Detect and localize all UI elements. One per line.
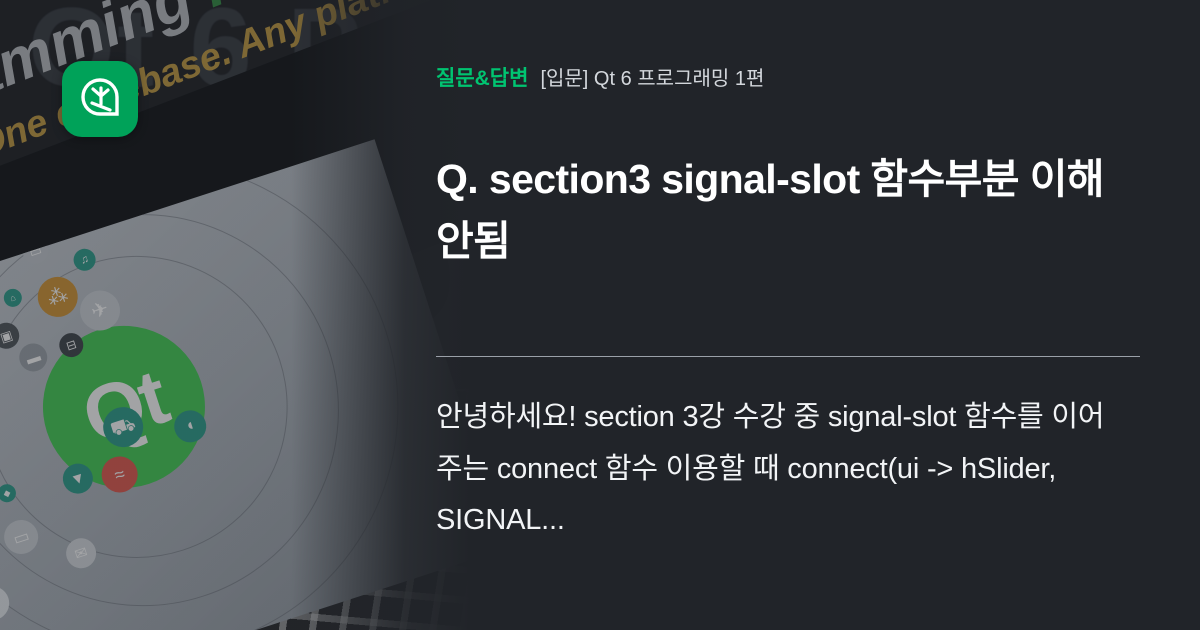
inflearn-logo-icon <box>77 76 123 122</box>
content-divider <box>436 356 1140 357</box>
category-tag[interactable]: 질문&답변 <box>436 62 528 92</box>
course-name[interactable]: [입문] Qt 6 프로그래밍 1편 <box>540 62 764 91</box>
og-card: Qt 6 P rogramming Part 1 work. One codeb… <box>0 0 1200 630</box>
breadcrumb: 질문&답변 [입문] Qt 6 프로그래밍 1편 <box>436 62 764 92</box>
inflearn-logo-badge[interactable] <box>62 61 138 137</box>
post-content: 질문&답변 [입문] Qt 6 프로그래밍 1편 Q. section3 sig… <box>436 0 1144 630</box>
page-title: Q. section3 signal-slot 함수부분 이해안됨 <box>436 149 1126 272</box>
post-excerpt: 안녕하세요! section 3강 수강 중 signal-slot 함수를 이… <box>436 392 1126 547</box>
